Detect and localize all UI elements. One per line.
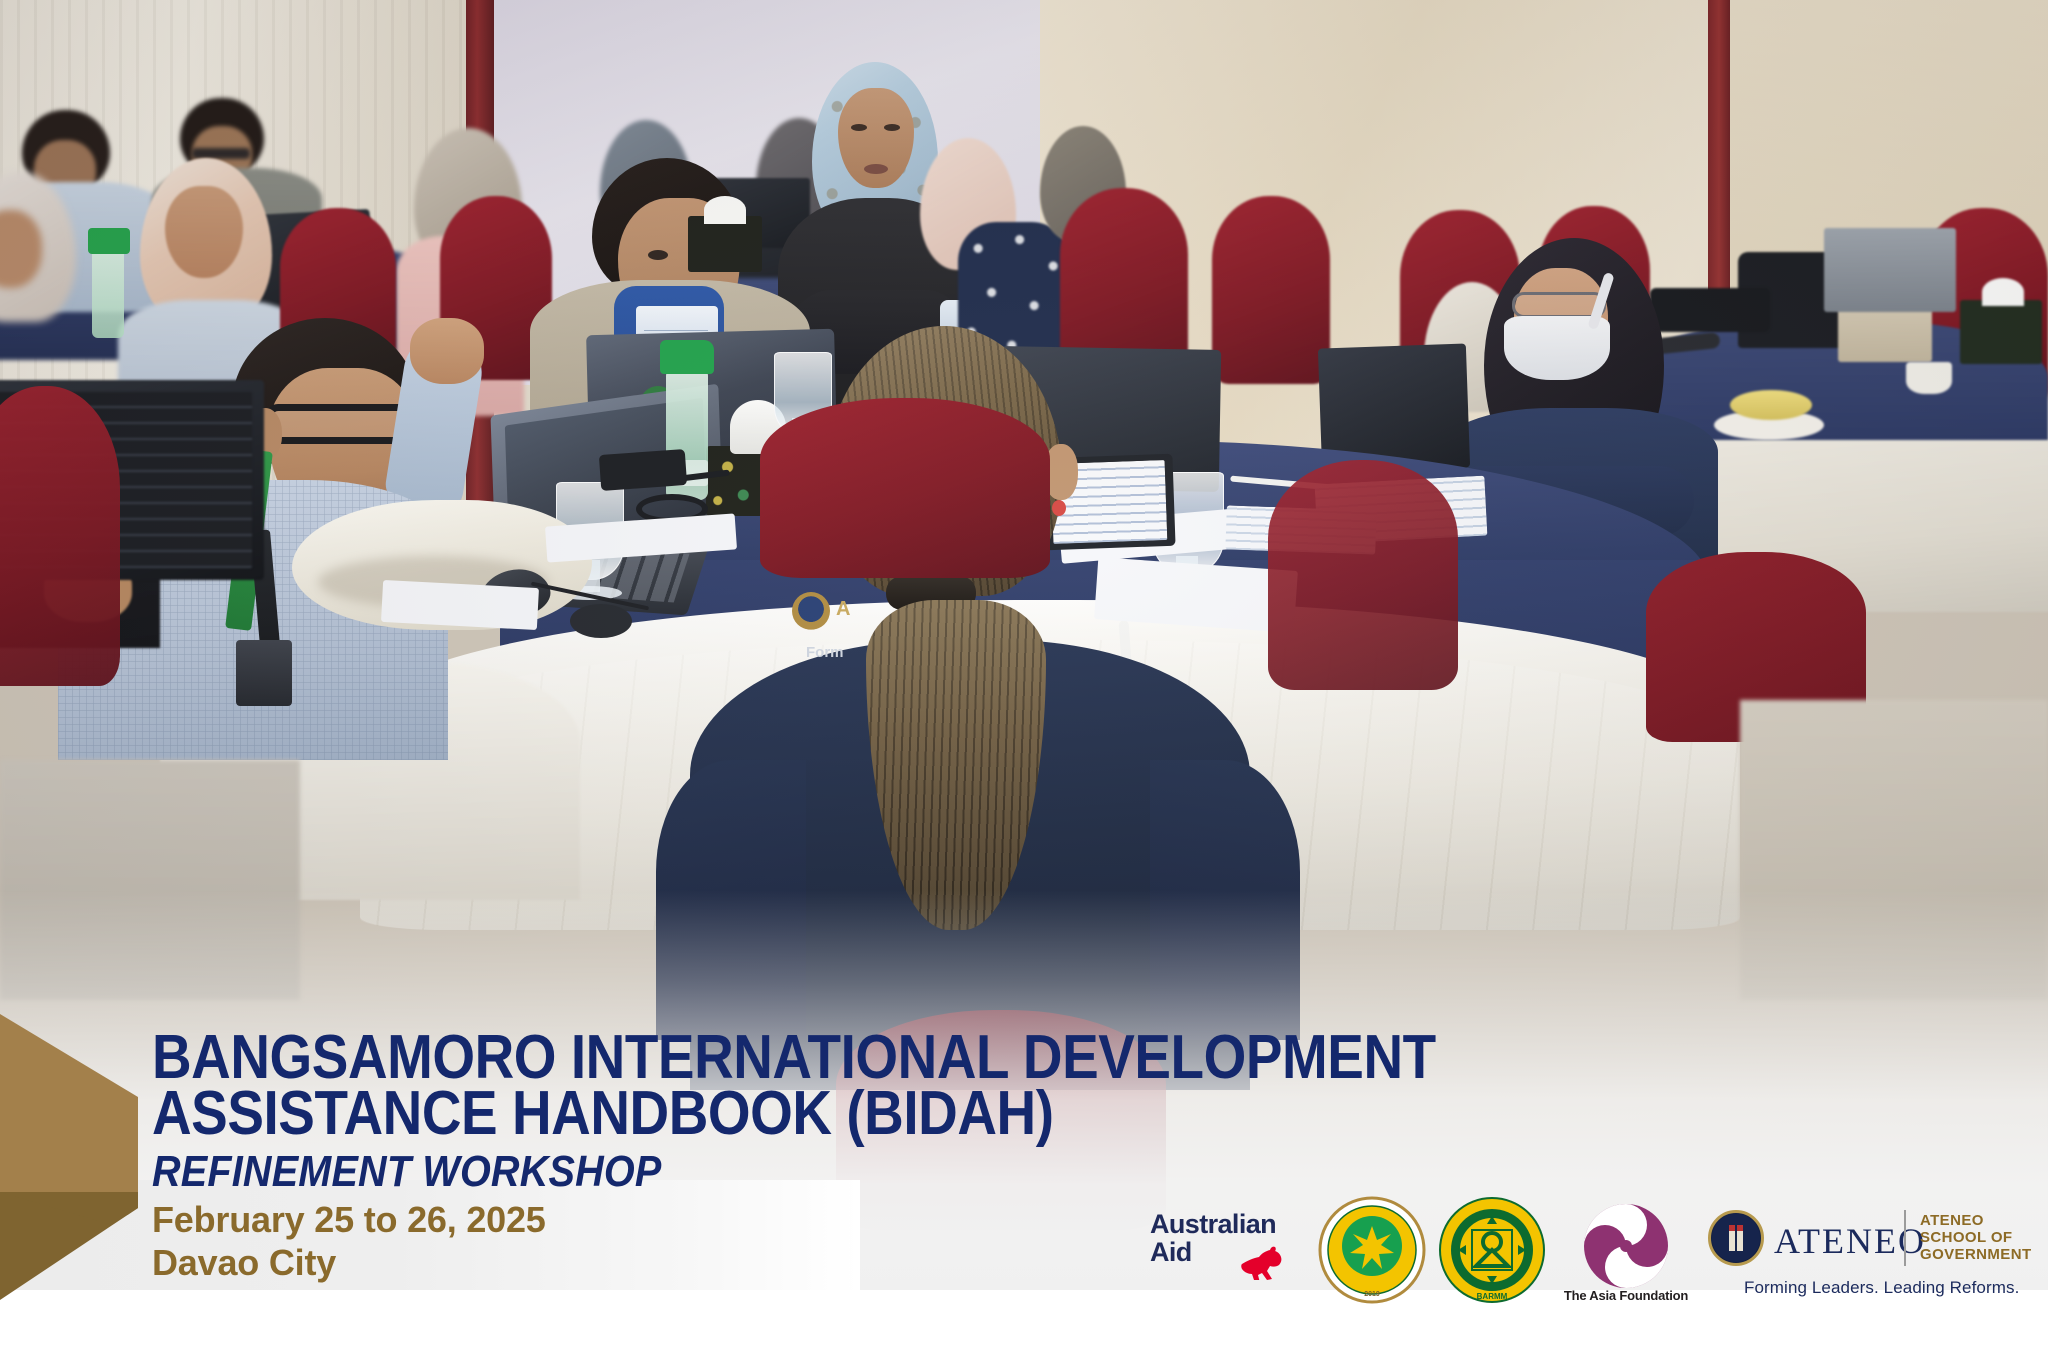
title-block: BANGSAMORO INTERNATIONAL DEVELOPMENT ASS… bbox=[152, 1030, 1452, 1198]
man-khaki-eye-left bbox=[648, 250, 668, 260]
tissue-sheet-far bbox=[704, 196, 746, 224]
standing-woman-mouth bbox=[864, 164, 888, 174]
equipment-dark bbox=[1650, 288, 1770, 332]
earring-icon bbox=[1052, 500, 1066, 516]
logo-the-asia-foundation: The Asia Foundation bbox=[1558, 1202, 1694, 1306]
chair-behind-foreground-woman bbox=[760, 398, 1050, 578]
man-glasses-hand bbox=[410, 318, 484, 384]
title-subtitle: REFINEMENT WORKSHOP bbox=[152, 1146, 1322, 1198]
partner-logo-row: Australian Aid 2019 bbox=[1150, 1196, 2030, 1306]
event-venue: Davao City bbox=[152, 1241, 546, 1284]
cable-knot bbox=[570, 604, 632, 638]
event-dates: February 25 to 26, 2025 bbox=[152, 1198, 546, 1241]
ateneo-unit-line-1: ATENEO bbox=[1920, 1212, 2032, 1229]
arrows-seal-icon: BARMM bbox=[1438, 1196, 1546, 1304]
spray-nozzle-center bbox=[660, 340, 714, 374]
ausaid-line-1: Australian bbox=[1150, 1210, 1300, 1238]
logo-barmm-seal: 2019 bbox=[1318, 1196, 1426, 1304]
logo-ateneo-school-of-government: ATENEO ATENEO SCHOOL OF GOVERNMENT Formi… bbox=[1708, 1204, 2028, 1304]
floor-right bbox=[1740, 700, 2048, 1000]
ateneo-tagline: Forming Leaders. Leading Reforms. bbox=[1744, 1278, 2019, 1298]
ateneo-unit-line-3: GOVERNMENT bbox=[1920, 1246, 2032, 1263]
triskelion-icon bbox=[1558, 1202, 1694, 1294]
tissue-right bbox=[1982, 278, 2024, 306]
event-details-block: February 25 to 26, 2025 Davao City bbox=[152, 1198, 546, 1284]
tissue-box-right bbox=[1960, 300, 2042, 364]
cup-right bbox=[1906, 362, 1952, 394]
tissue-box-far bbox=[688, 216, 762, 272]
logo-australian-aid: Australian Aid bbox=[1150, 1210, 1300, 1266]
chair-right-mid bbox=[1268, 460, 1458, 690]
bpda-subtext: BARMM bbox=[1477, 1292, 1508, 1301]
jacket-crest-icon bbox=[792, 592, 830, 630]
star-seal-icon: 2019 bbox=[1318, 1196, 1426, 1304]
title-line-2: ASSISTANCE HANDBOOK (BIDAH) bbox=[152, 1086, 1303, 1142]
person-hijab-floral-face bbox=[165, 186, 243, 278]
logo-bpda-seal: BARMM bbox=[1438, 1196, 1546, 1304]
id-badge bbox=[236, 640, 292, 706]
foreground-woman-shoulder-right bbox=[1150, 760, 1300, 1040]
ateneo-divider bbox=[1904, 1210, 1906, 1266]
spray-nozzle-left bbox=[88, 228, 130, 254]
power-brick bbox=[599, 449, 687, 491]
ateneo-seal-icon bbox=[1708, 1210, 1764, 1266]
ateneo-unit-name: ATENEO SCHOOL OF GOVERNMENT bbox=[1920, 1212, 2032, 1263]
standing-woman-eye-left bbox=[851, 124, 867, 131]
kangaroo-icon bbox=[1238, 1240, 1294, 1280]
chair-foreground-left bbox=[0, 386, 120, 686]
asia-foundation-caption: The Asia Foundation bbox=[1558, 1288, 1694, 1303]
barmm-year: 2019 bbox=[1364, 1291, 1380, 1298]
monitor-right bbox=[1824, 228, 1956, 312]
chair-back-4 bbox=[1212, 196, 1330, 384]
floor-left bbox=[0, 760, 300, 1000]
fruit-slices bbox=[1730, 390, 1812, 420]
ateneo-unit-line-2: SCHOOL OF bbox=[1920, 1229, 2032, 1246]
poster-canvas: A OF MENT Form s. bbox=[0, 0, 2048, 1365]
standing-woman-eye-right bbox=[884, 124, 900, 131]
title-line-1: BANGSAMORO INTERNATIONAL DEVELOPMENT bbox=[152, 1030, 1303, 1086]
chevron-upper-facet bbox=[0, 1014, 138, 1192]
foreground-woman-shoulder-left bbox=[656, 760, 806, 1040]
gold-chevron-accent bbox=[0, 1000, 160, 1300]
paper-left-2 bbox=[381, 580, 539, 630]
